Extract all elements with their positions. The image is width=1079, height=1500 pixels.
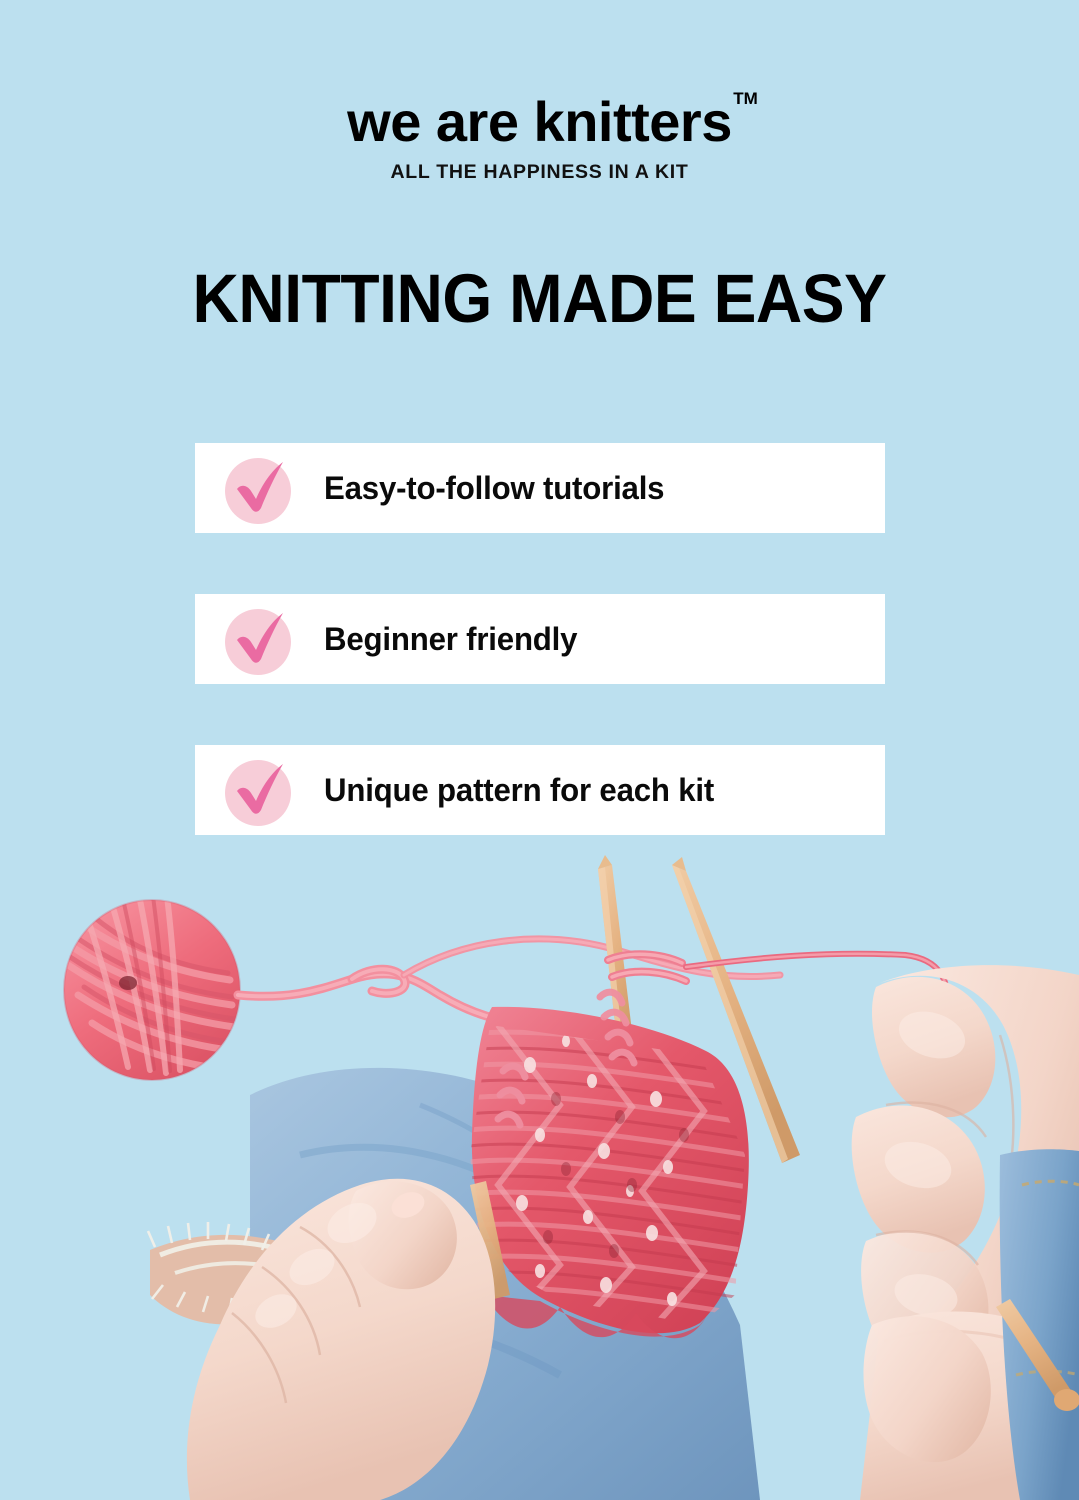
feature-list: Easy-to-follow tutorials Beginner friend…	[195, 443, 885, 835]
feature-card: Beginner friendly	[195, 594, 885, 684]
feature-card: Easy-to-follow tutorials	[195, 443, 885, 533]
check-icon	[221, 451, 295, 525]
hero-photo	[0, 855, 1079, 1500]
check-icon-mark	[221, 753, 295, 827]
check-icon-mark	[221, 451, 295, 525]
feature-label: Easy-to-follow tutorials	[324, 470, 664, 507]
poster-root: we are knittersTM ALL THE HAPPINESS IN A…	[0, 0, 1079, 1500]
brand-logo-block: we are knittersTM ALL THE HAPPINESS IN A…	[0, 94, 1079, 184]
brand-tagline: ALL THE HAPPINESS IN A KIT	[0, 161, 1079, 184]
trademark-symbol: TM	[733, 90, 758, 107]
brand-wordmark-text: we are knitters	[347, 90, 732, 153]
check-icon-mark	[221, 602, 295, 676]
page-title: KNITTING MADE EASY	[38, 264, 1041, 333]
check-icon	[221, 753, 295, 827]
brand-wordmark: we are knittersTM	[347, 94, 732, 150]
feature-label: Unique pattern for each kit	[324, 772, 714, 809]
hero-photo-illustration	[0, 855, 1079, 1500]
feature-card: Unique pattern for each kit	[195, 745, 885, 835]
feature-label: Beginner friendly	[324, 621, 577, 658]
check-icon	[221, 602, 295, 676]
